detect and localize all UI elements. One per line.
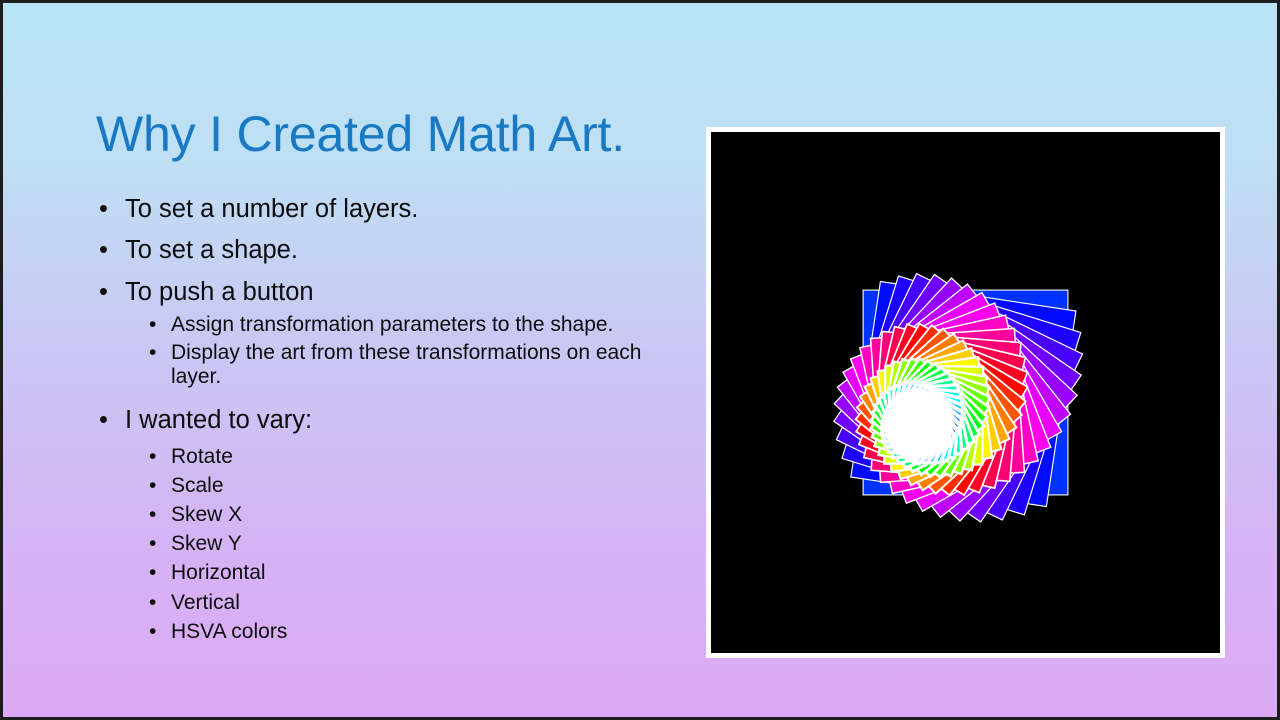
- sub-list-item-label: Rotate: [171, 445, 233, 468]
- sub-list-item: • Rotate: [96, 442, 686, 471]
- bullet-icon: •: [149, 558, 156, 587]
- sub-list-item-label: HSVA colors: [171, 620, 287, 643]
- list-item-label: To set a number of layers.: [125, 195, 418, 223]
- bullet-icon: •: [99, 189, 108, 229]
- bullet-icon: •: [149, 529, 156, 558]
- sub-list-item-label: Scale: [171, 474, 224, 497]
- bullet-icon: •: [99, 230, 108, 270]
- sub-list-item: • Horizontal: [96, 558, 686, 587]
- list-item-label: To set a shape.: [125, 236, 298, 264]
- sub-list-item-label: Assign transformation parameters to the …: [171, 313, 613, 336]
- bullet-list: • To set a number of layers. • To set a …: [96, 189, 686, 646]
- bullet-icon: •: [149, 442, 156, 471]
- page-title: Why I Created Math Art.: [96, 106, 716, 164]
- sub-list-item-label: Skew Y: [171, 532, 242, 555]
- sub-list-item-label: Skew X: [171, 503, 242, 526]
- math-art-image-frame: [706, 127, 1225, 658]
- math-art-spiral-image: [711, 132, 1220, 653]
- bullet-icon: •: [149, 341, 156, 365]
- list-item: • To set a shape.: [96, 230, 686, 270]
- sub-list-item-label: Horizontal: [171, 561, 266, 584]
- sub-list-item: • Skew Y: [96, 529, 686, 558]
- bullet-icon: •: [149, 617, 156, 646]
- sub-list-item-label: Vertical: [171, 591, 240, 614]
- sub-list-item: • Assign transformation parameters to th…: [96, 313, 686, 337]
- sub-list-item: • Vertical: [96, 588, 686, 617]
- list-item: • To set a number of layers.: [96, 189, 686, 229]
- art-layer-square: [904, 435, 905, 436]
- bullet-icon: •: [99, 272, 108, 312]
- bullet-icon: •: [149, 313, 156, 337]
- sub-list-item: • Scale: [96, 471, 686, 500]
- bullet-icon: •: [99, 400, 108, 440]
- bullet-icon: •: [149, 500, 156, 529]
- sub-list-item-label: Display the art from these transformatio…: [171, 341, 641, 388]
- bullet-icon: •: [149, 471, 156, 500]
- sub-list-item: • Skew X: [96, 500, 686, 529]
- bullet-icon: •: [149, 588, 156, 617]
- spacer: [96, 393, 686, 400]
- list-item: • I wanted to vary:: [96, 400, 686, 440]
- list-item-label: To push a button: [125, 278, 314, 306]
- sub-list-item: • Display the art from these transformat…: [96, 341, 686, 388]
- list-item-label: I wanted to vary:: [125, 406, 312, 434]
- presentation-slide: Why I Created Math Art. • To set a numbe…: [0, 0, 1280, 720]
- list-item: • To push a button: [96, 272, 686, 312]
- sub-list-item: • HSVA colors: [96, 617, 686, 646]
